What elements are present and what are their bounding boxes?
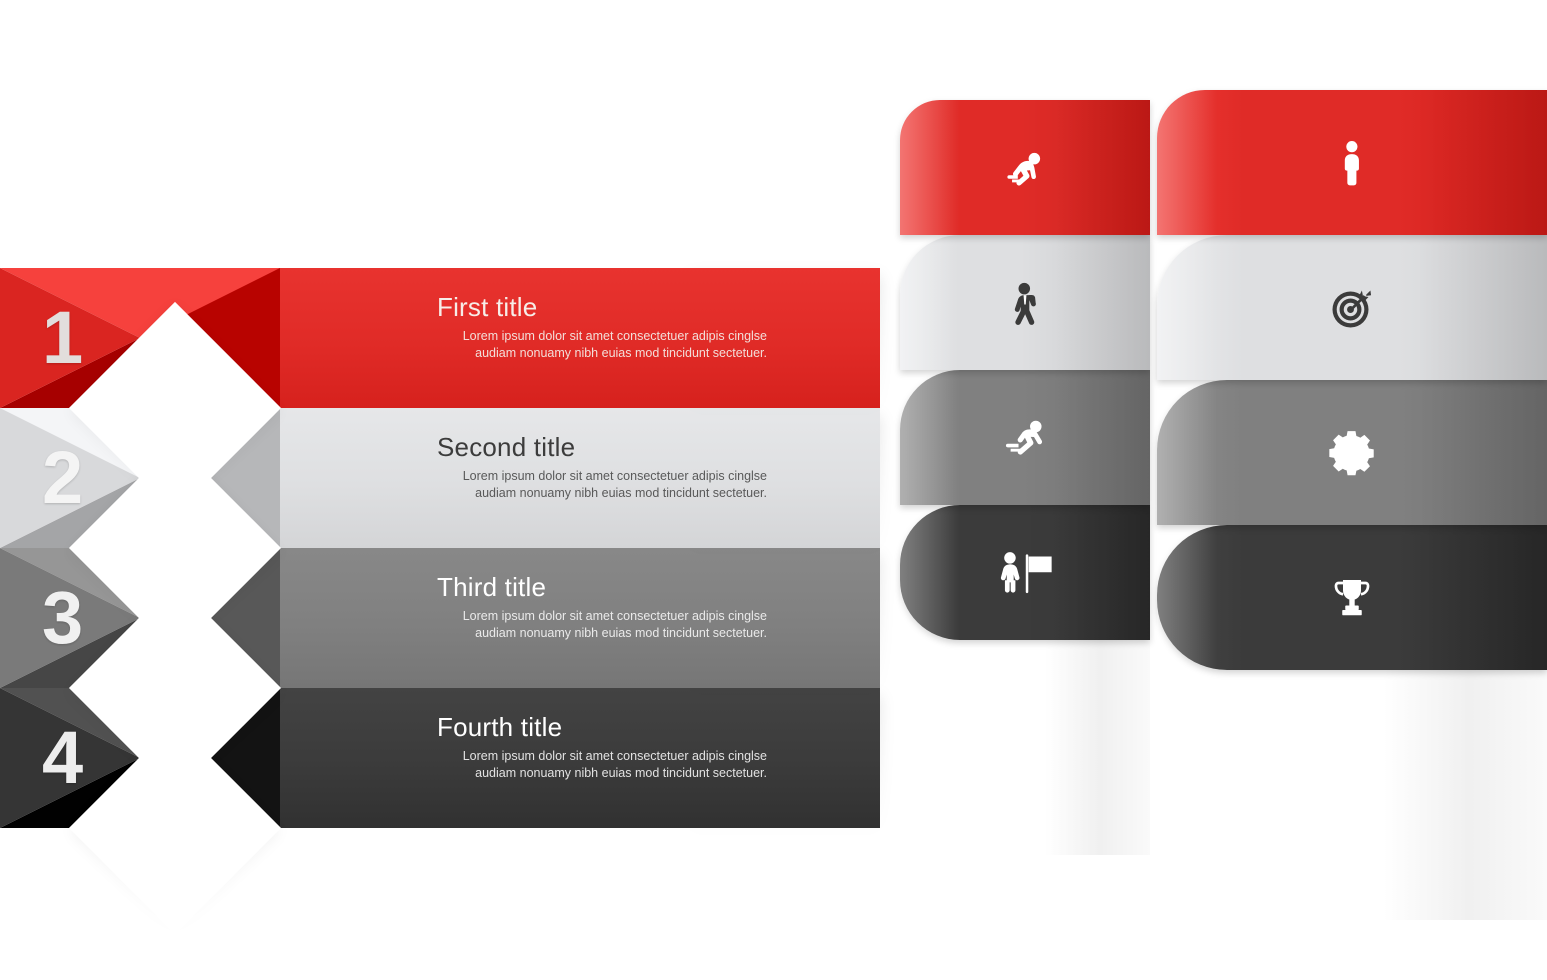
step-description: Lorem ipsum dolor sit amet consectetuer … bbox=[437, 608, 767, 642]
ribbon-icon-slot bbox=[1157, 284, 1547, 332]
step-title: Third title bbox=[437, 574, 767, 600]
gear-icon bbox=[1328, 429, 1376, 477]
ribbon-icon-slot bbox=[900, 145, 1150, 191]
ribbon-icon-slot bbox=[1157, 429, 1547, 477]
ribbon-tail bbox=[900, 640, 1150, 855]
person-with-flag-icon bbox=[994, 550, 1056, 596]
step-text: Fourth titleLorem ipsum dolor sit amet c… bbox=[437, 714, 767, 782]
ribbon-icon-slot bbox=[900, 280, 1150, 326]
step-description: Lorem ipsum dolor sit amet consectetuer … bbox=[437, 328, 767, 362]
step-text: Third titleLorem ipsum dolor sit amet co… bbox=[437, 574, 767, 642]
step-description: Lorem ipsum dolor sit amet consectetuer … bbox=[437, 748, 767, 782]
ribbon-icon-slot bbox=[900, 415, 1150, 461]
target-arrow-icon bbox=[1328, 284, 1376, 332]
step-number: 4 bbox=[42, 721, 82, 795]
ribbon-segment bbox=[900, 370, 1150, 505]
ribbon-icon-slot bbox=[1157, 574, 1547, 622]
ribbon-segment bbox=[900, 505, 1150, 640]
step-title: First title bbox=[437, 294, 767, 320]
ribbon-segment bbox=[900, 235, 1150, 370]
businessman-walking-icon bbox=[1002, 280, 1048, 326]
step-number: 2 bbox=[42, 441, 82, 515]
runner-sprinting-icon bbox=[1002, 415, 1048, 461]
step-title: Second title bbox=[437, 434, 767, 460]
step-description: Lorem ipsum dolor sit amet consectetuer … bbox=[437, 468, 767, 502]
ribbon-segment bbox=[1157, 525, 1547, 670]
trophy-icon bbox=[1328, 574, 1376, 622]
ribbon-icon-slot bbox=[1157, 139, 1547, 187]
step-text: First titleLorem ipsum dolor sit amet co… bbox=[437, 294, 767, 362]
step-number: 1 bbox=[42, 301, 82, 375]
ribbon-segment bbox=[1157, 235, 1547, 380]
ribbon-right bbox=[1157, 90, 1547, 790]
ribbon-tail bbox=[1157, 670, 1547, 920]
ribbon-segment bbox=[1157, 380, 1547, 525]
step-text: Second titleLorem ipsum dolor sit amet c… bbox=[437, 434, 767, 502]
ribbon-middle bbox=[900, 100, 1150, 760]
infographic-canvas: 1First titleLorem ipsum dolor sit amet c… bbox=[0, 0, 1547, 980]
ribbon-segment bbox=[1157, 90, 1547, 235]
ribbon-icon-slot bbox=[900, 550, 1150, 596]
ribbon-segment bbox=[900, 100, 1150, 235]
step-number: 3 bbox=[42, 581, 82, 655]
person-standing-icon bbox=[1337, 139, 1367, 187]
step-title: Fourth title bbox=[437, 714, 767, 740]
runner-start-icon bbox=[1002, 145, 1048, 191]
